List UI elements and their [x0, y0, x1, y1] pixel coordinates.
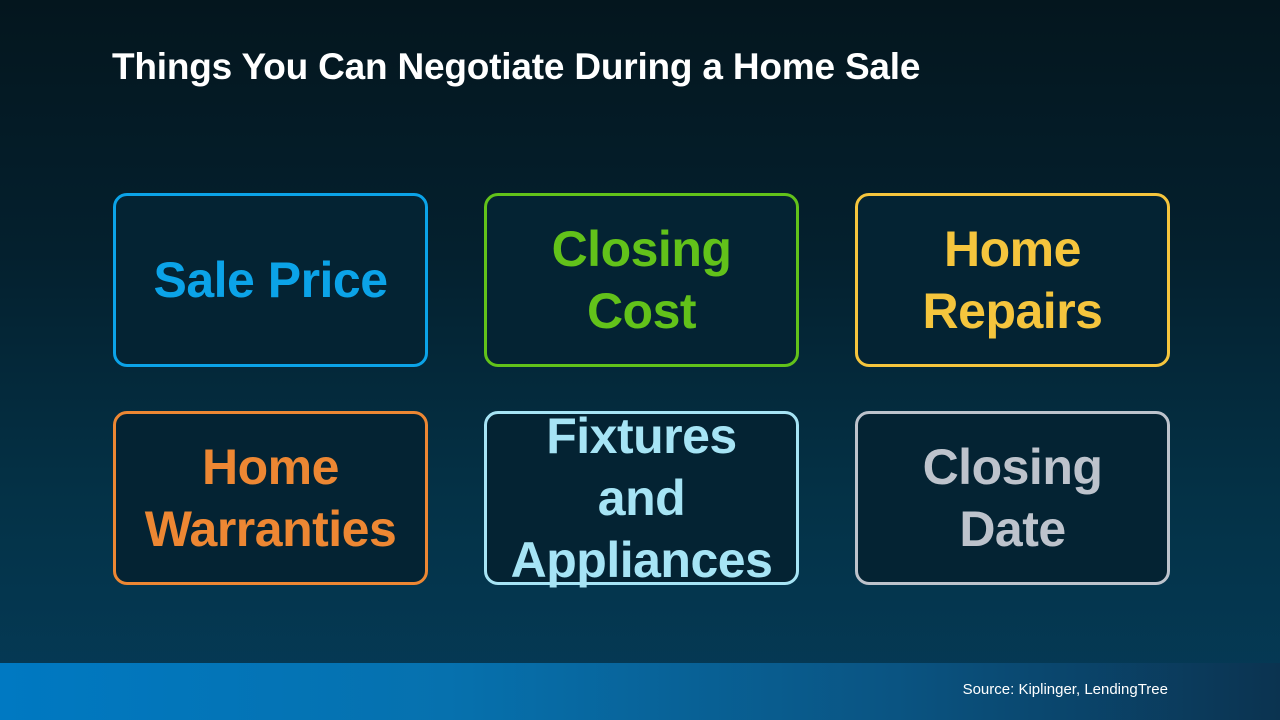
card-fixtures-and-appliances[interactable]: Fixtures and Appliances — [484, 411, 799, 585]
source-attribution: Source: Kiplinger, LendingTree — [963, 681, 1168, 698]
card-label: Sale Price — [153, 249, 387, 311]
card-label: Closing Cost — [497, 218, 786, 342]
card-home-repairs[interactable]: Home Repairs — [855, 193, 1170, 367]
card-closing-cost[interactable]: Closing Cost — [484, 193, 799, 367]
card-label: Closing Date — [868, 436, 1157, 560]
negotiable-items-grid: Sale Price Closing Cost Home Repairs Hom… — [113, 193, 1170, 585]
footer-bar: Source: Kiplinger, LendingTree — [0, 663, 1280, 720]
card-label: Home Repairs — [868, 218, 1157, 342]
card-home-warranties[interactable]: Home Warranties — [113, 411, 428, 585]
card-sale-price[interactable]: Sale Price — [113, 193, 428, 367]
page-title: Things You Can Negotiate During a Home S… — [112, 46, 920, 88]
slide: Things You Can Negotiate During a Home S… — [0, 0, 1280, 720]
card-closing-date[interactable]: Closing Date — [855, 411, 1170, 585]
card-label: Home Warranties — [126, 436, 415, 560]
card-label: Fixtures and Appliances — [497, 405, 786, 591]
